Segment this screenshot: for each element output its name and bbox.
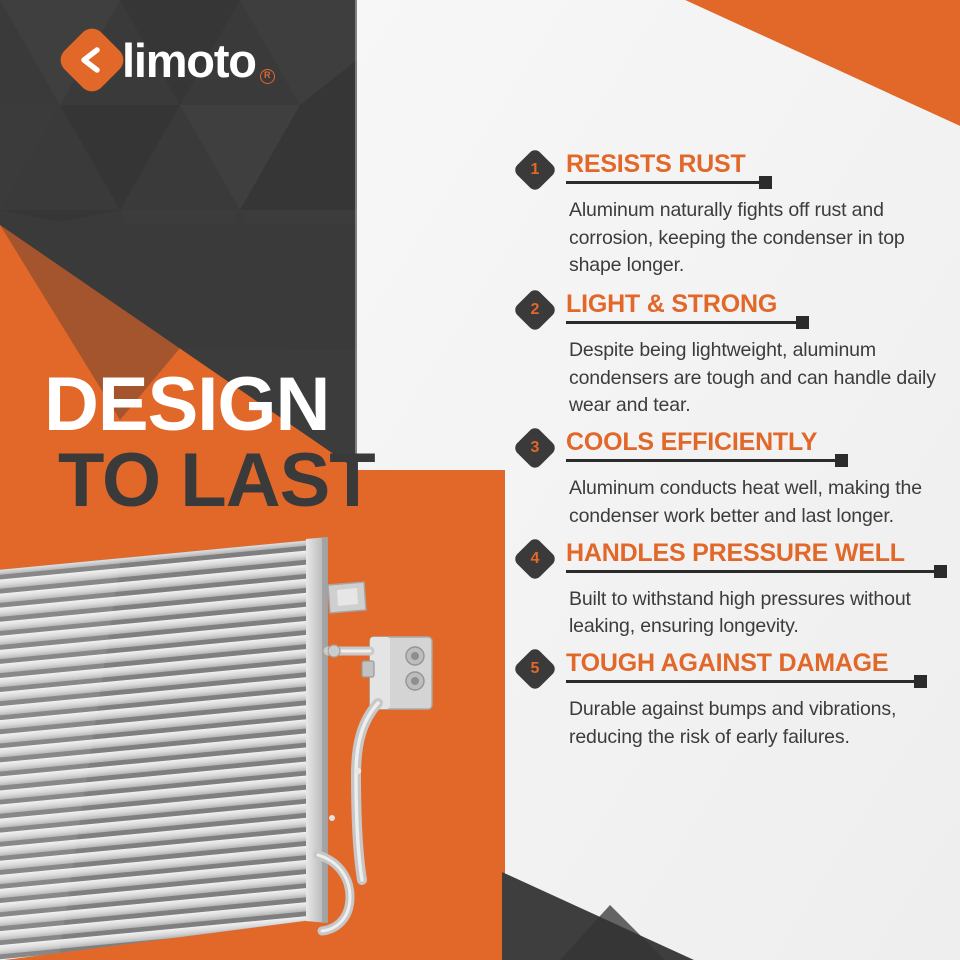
feature-list: 1 RESISTS RUST Aluminum naturally fights…	[519, 150, 951, 759]
rule-end-cap-icon	[796, 316, 809, 329]
feature-item-5: 5 TOUGH AGAINST DAMAGE Durable against b…	[519, 649, 951, 751]
feature-number-badge-1: 1	[512, 147, 557, 192]
feature-description-4: Built to withstand high pressures withou…	[569, 586, 951, 641]
feature-rule-2	[566, 321, 798, 324]
feature-title-1: RESISTS RUST	[566, 150, 746, 179]
rule-end-cap-icon	[914, 675, 927, 688]
feature-rule-3	[566, 459, 837, 462]
feature-title-2: LIGHT & STRONG	[566, 290, 777, 319]
logo-diamond-icon	[55, 23, 129, 97]
registered-trademark-icon: R	[260, 69, 275, 84]
feature-rule-4	[566, 570, 936, 573]
headline-line-1: DESIGN	[44, 370, 464, 440]
feature-description-5: Durable against bumps and vibrations, re…	[569, 696, 951, 751]
feature-number-badge-5: 5	[512, 646, 557, 691]
feature-rule-1	[566, 181, 761, 184]
feature-title-3: COOLS EFFICIENTLY	[566, 428, 817, 457]
feature-number-badge-2: 2	[512, 287, 557, 332]
feature-heading-3: 3 COOLS EFFICIENTLY	[519, 428, 951, 468]
page-title: DESIGN TO LAST	[44, 370, 464, 516]
mounting-bracket	[328, 582, 366, 613]
feature-item-1: 1 RESISTS RUST Aluminum naturally fights…	[519, 150, 951, 280]
feature-number-3: 3	[519, 432, 551, 464]
infographic-canvas: limoto R DESIGN TO LAST	[0, 0, 960, 960]
feature-number-5: 5	[519, 653, 551, 685]
brand-name: limoto	[122, 37, 256, 84]
feature-number-1: 1	[519, 154, 551, 186]
feature-heading-4: 4 HANDLES PRESSURE WELL	[519, 539, 951, 579]
feature-title-4: HANDLES PRESSURE WELL	[566, 539, 905, 568]
feature-rule-5	[566, 680, 916, 683]
feature-number-2: 2	[519, 294, 551, 326]
feature-description-1: Aluminum naturally fights off rust and c…	[569, 197, 951, 280]
rule-end-cap-icon	[934, 565, 947, 578]
feature-heading-1: 1 RESISTS RUST	[519, 150, 951, 190]
headline-line-2: TO LAST	[58, 446, 464, 516]
ac-condenser-photo	[0, 525, 546, 960]
feature-item-2: 2 LIGHT & STRONG Despite being lightweig…	[519, 290, 951, 420]
feature-description-3: Aluminum conducts heat well, making the …	[569, 475, 951, 530]
feature-number-4: 4	[519, 543, 551, 575]
feature-number-badge-3: 3	[512, 425, 557, 470]
feature-item-4: 4 HANDLES PRESSURE WELL Built to withsta…	[519, 539, 951, 641]
feature-item-3: 3 COOLS EFFICIENTLY Aluminum conducts he…	[519, 428, 951, 530]
feature-description-2: Despite being lightweight, aluminum cond…	[569, 337, 951, 420]
feature-heading-2: 2 LIGHT & STRONG	[519, 290, 951, 330]
feature-title-5: TOUGH AGAINST DAMAGE	[566, 649, 888, 678]
feature-heading-5: 5 TOUGH AGAINST DAMAGE	[519, 649, 951, 689]
chevron-left-icon	[77, 45, 107, 75]
rule-end-cap-icon	[759, 176, 772, 189]
feature-number-badge-4: 4	[512, 536, 557, 581]
rule-end-cap-icon	[835, 454, 848, 467]
brand-logo: limoto R	[66, 28, 275, 92]
